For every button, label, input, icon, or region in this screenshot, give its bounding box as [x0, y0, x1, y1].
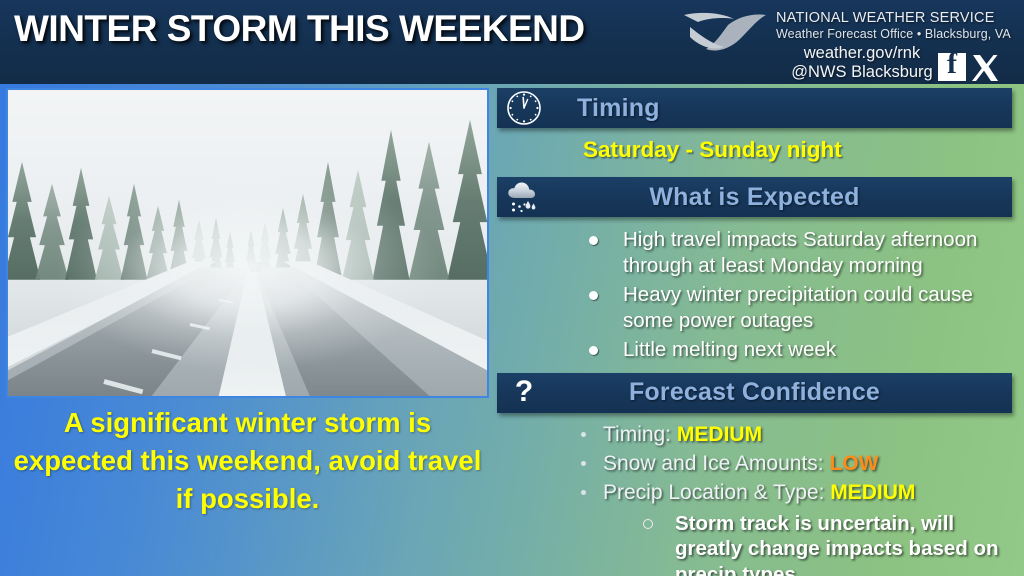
- section-title-confidence: Forecast Confidence: [551, 378, 1012, 407]
- clock-icon: [506, 90, 542, 126]
- confidence-level: MEDIUM: [830, 481, 915, 504]
- caption-text: A significant winter storm is expected t…: [6, 404, 489, 518]
- website-url[interactable]: weather.gov/rnk: [788, 44, 936, 63]
- confidence-level: MEDIUM: [677, 423, 762, 446]
- facebook-icon[interactable]: [938, 53, 966, 81]
- list-item: Precip Location & Type: MEDIUM: [497, 478, 1024, 507]
- list-item: Timing: MEDIUM: [497, 420, 1024, 449]
- agency-name: NATIONAL WEATHER SERVICE: [776, 10, 1011, 26]
- list-item: High travel impacts Saturday afternoon t…: [497, 227, 1024, 278]
- list-item: Heavy winter precipitation could cause s…: [497, 282, 1024, 333]
- weather-graphic: WINTER STORM THIS WEEKEND NATIONAL WEATH…: [0, 0, 1024, 576]
- social-handle[interactable]: @NWS Blacksburg: [788, 63, 936, 82]
- confidence-list: Timing: MEDIUM Snow and Ice Amounts: LOW…: [497, 420, 1024, 507]
- office-name: Weather Forecast Office • Blacksburg, VA: [776, 27, 1011, 41]
- confidence-level: LOW: [829, 452, 878, 475]
- info-panel: Timing Saturday - Sunday night: [497, 88, 1024, 576]
- expected-bullet-list: High travel impacts Saturday afternoon t…: [497, 227, 1024, 363]
- confidence-subnote: Storm track is uncertain, will greatly c…: [497, 511, 1024, 576]
- nws-contact-block: weather.gov/rnk @NWS Blacksburg: [788, 44, 936, 82]
- section-title-expected: What is Expected: [551, 183, 1012, 212]
- header-banner: WINTER STORM THIS WEEKEND NATIONAL WEATH…: [0, 0, 1024, 84]
- page-title: WINTER STORM THIS WEEKEND: [14, 8, 585, 50]
- confidence-label: Snow and Ice Amounts:: [603, 452, 824, 475]
- nws-office-text: NATIONAL WEATHER SERVICE Weather Forecas…: [776, 10, 1011, 41]
- section-header-timing: Timing: [497, 88, 1012, 128]
- nws-swoosh-logo-icon: [682, 9, 768, 61]
- snow-road-photo: [6, 88, 489, 398]
- x-twitter-icon[interactable]: [970, 53, 1000, 83]
- photo-vehicle-near: [250, 262, 261, 271]
- social-icons: [938, 53, 1000, 83]
- svg-text:?: ?: [515, 376, 533, 408]
- section-header-confidence: ? Forecast Confidence: [497, 373, 1012, 413]
- snow-rain-cloud-icon-wrap: [497, 177, 551, 217]
- photo-vehicle-far: [262, 253, 269, 258]
- question-mark-icon: ?: [511, 376, 537, 410]
- clock-icon-wrap: [497, 88, 551, 128]
- timing-value: Saturday - Sunday night: [583, 137, 1024, 163]
- section-title-timing: Timing: [577, 94, 660, 123]
- confidence-label: Timing:: [603, 423, 671, 446]
- confidence-label: Precip Location & Type:: [603, 481, 824, 504]
- section-header-expected: What is Expected: [497, 177, 1012, 217]
- list-item: Little melting next week: [497, 337, 1024, 363]
- snow-rain-cloud-icon: [502, 179, 546, 215]
- question-mark-icon-wrap: ?: [497, 373, 551, 413]
- list-item: Snow and Ice Amounts: LOW: [497, 449, 1024, 478]
